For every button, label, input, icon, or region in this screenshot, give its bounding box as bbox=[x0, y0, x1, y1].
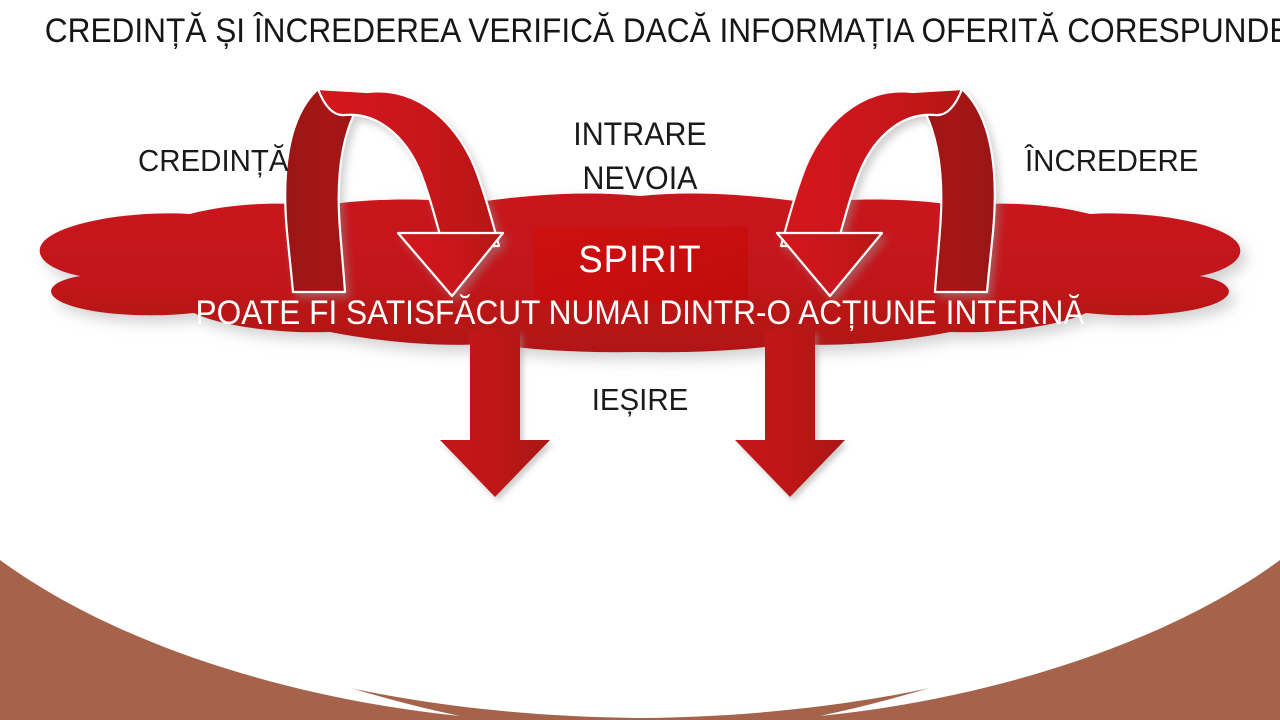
label-iesire: IEȘIRE bbox=[32, 384, 1248, 415]
slide-canvas: CREDINȚĂ ȘI ÎNCREDEREA VERIFICĂ DACĂ INF… bbox=[0, 0, 1280, 720]
slide-graphics bbox=[0, 0, 1280, 720]
page-title: CREDINȚĂ ȘI ÎNCREDEREA VERIFICĂ DACĂ INF… bbox=[45, 14, 1235, 48]
label-nevoia: NEVOIA bbox=[32, 162, 1248, 194]
label-spirit: SPIRIT bbox=[26, 241, 1255, 279]
label-intrare: INTRARE bbox=[32, 118, 1248, 150]
cloud-statement-text: POATE FI SATISFĂCUT NUMAI DINTR-O ACȚIUN… bbox=[45, 296, 1235, 330]
curved-band-decoration bbox=[0, 520, 1280, 720]
